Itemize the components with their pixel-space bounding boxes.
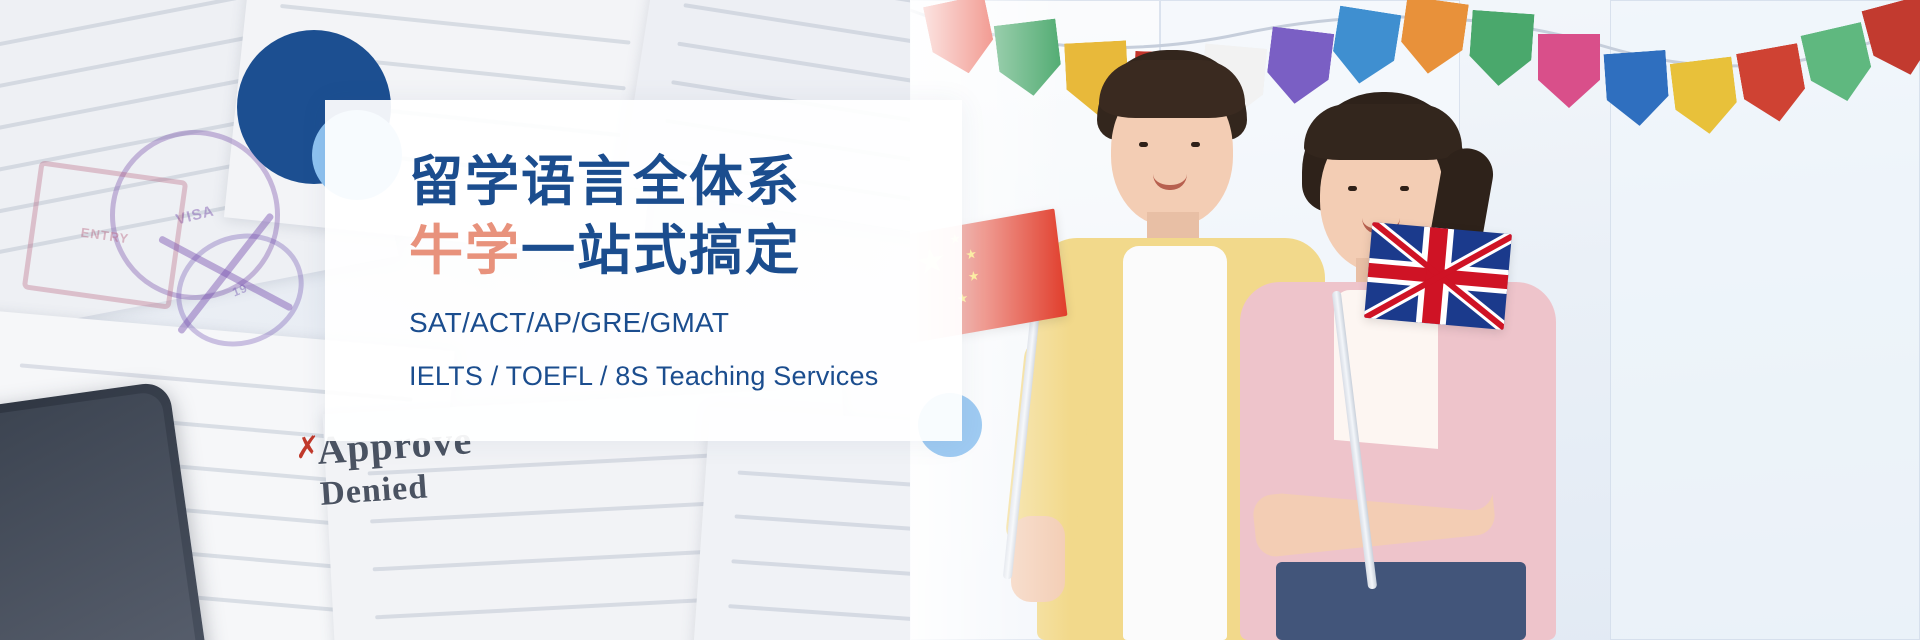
boy-tshirt — [1123, 246, 1227, 640]
passport-stamp-text: ENTRY — [80, 224, 130, 246]
girl-fringe — [1304, 104, 1462, 160]
subtitle-exams: SAT/ACT/AP/GRE/GMAT — [409, 307, 962, 339]
uk-flag-icon — [1364, 222, 1512, 330]
student-girl — [1240, 92, 1590, 640]
headline-secondary: 牛学一站式搞定 — [409, 221, 962, 280]
headline-card-content: 留学语言全体系 牛学一站式搞定 SAT/ACT/AP/GRE/GMAT IELT… — [325, 100, 962, 392]
headline-accent-text: 牛学 — [409, 219, 521, 282]
girl-jeans — [1276, 562, 1526, 640]
headline-secondary-text: 一站式搞定 — [521, 219, 801, 282]
boy-eye — [1139, 142, 1148, 147]
girl-eye — [1348, 186, 1357, 191]
background-students-photo: ★ ★ ★ ★ ★ — [910, 0, 1920, 640]
stamp-cross-icon — [136, 181, 314, 359]
headline-card: 留学语言全体系 牛学一站式搞定 SAT/ACT/AP/GRE/GMAT IELT… — [325, 100, 962, 441]
promo-banner: VISA ENTRY 19 ✗ Approve Denied — [0, 0, 1920, 640]
bunting-flag — [1670, 56, 1741, 137]
checkmark-icon: ✗ — [294, 435, 322, 463]
boy-fringe — [1099, 60, 1245, 118]
girl-eye — [1400, 186, 1409, 191]
boy-eye — [1191, 142, 1200, 147]
headline-primary: 留学语言全体系 — [409, 152, 962, 211]
subtitle-services: IELTS / TOEFL / 8S Teaching Services — [409, 361, 962, 392]
